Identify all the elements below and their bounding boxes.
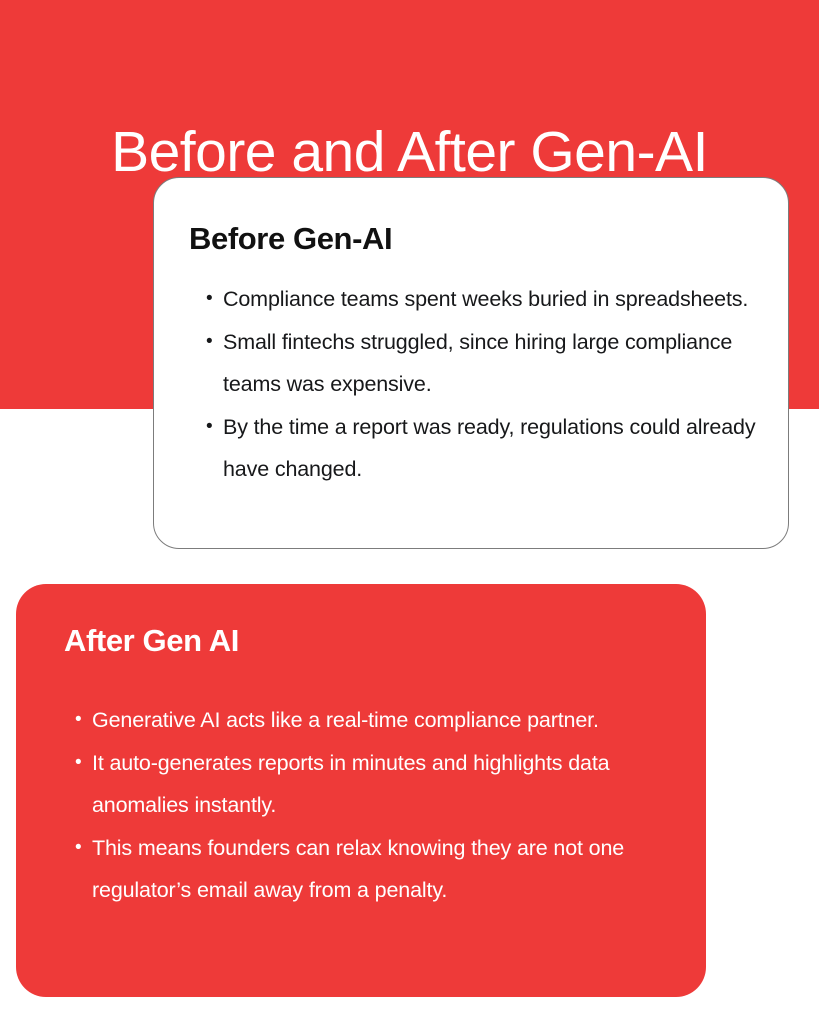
list-item: By the time a report was ready, regulati… (206, 406, 771, 491)
list-item: Small fintechs struggled, since hiring l… (206, 321, 771, 406)
list-item: It auto-generates reports in minutes and… (75, 742, 675, 827)
card-before-bullet-list: Compliance teams spent weeks buried in s… (206, 278, 771, 491)
list-item: This means founders can relax knowing th… (75, 827, 675, 912)
page-title: Before and After Gen-AI (0, 120, 819, 186)
card-after-bullet-list: Generative AI acts like a real-time comp… (75, 699, 675, 912)
list-item: Generative AI acts like a real-time comp… (75, 699, 675, 742)
card-before-heading: Before Gen-AI (189, 221, 392, 257)
card-after-gen-ai: After Gen AI Generative AI acts like a r… (16, 584, 706, 997)
card-before-gen-ai: Before Gen-AI Compliance teams spent wee… (153, 177, 789, 549)
card-after-heading: After Gen AI (64, 623, 239, 659)
list-item: Compliance teams spent weeks buried in s… (206, 278, 771, 321)
